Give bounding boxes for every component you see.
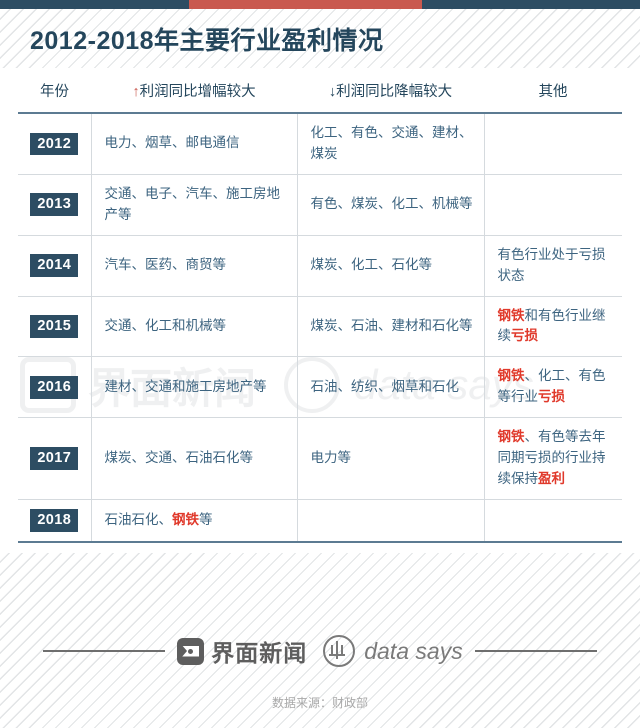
table-row: 2016建材、交通和施工房地产等石油、纺织、烟草和石化钢铁、化工、有色等行业亏损 xyxy=(18,357,622,418)
column-header-label: 利润同比降幅较大 xyxy=(336,84,452,100)
cell-text: 建材、交通和施工房地产等 xyxy=(105,379,267,394)
year-cell: 2013 xyxy=(18,174,91,235)
year-badge: 2012 xyxy=(30,133,78,156)
cell-text: 交通、电子、汽车、施工房地产等 xyxy=(105,186,281,222)
cell-text: 化工、有色、交通、建材、煤炭 xyxy=(311,125,473,161)
profit-table-container: 年份↑利润同比增幅较大↓利润同比降幅较大其他 2012电力、烟草、邮电通信化工、… xyxy=(18,68,622,543)
column-header-year: 年份 xyxy=(18,68,91,113)
up-cell: 石油石化、钢铁等 xyxy=(91,499,297,541)
other-cell: 有色行业处于亏损状态 xyxy=(484,235,622,296)
cell-text: 煤炭、石油、建材和石化等 xyxy=(311,318,473,333)
cell-text: 汽车、医药、商贸等 xyxy=(105,257,227,272)
year-cell: 2015 xyxy=(18,296,91,357)
table-row: 2014汽车、医药、商贸等煤炭、化工、石化等有色行业处于亏损状态 xyxy=(18,235,622,296)
up-cell: 建材、交通和施工房地产等 xyxy=(91,357,297,418)
year-badge: 2018 xyxy=(30,509,78,532)
table-row: 2018石油石化、钢铁等 xyxy=(18,499,622,541)
footer-rule-left xyxy=(43,650,165,652)
up-cell: 电力、烟草、邮电通信 xyxy=(91,113,297,174)
table-row: 2015交通、化工和机械等煤炭、石油、建材和石化等钢铁和有色行业继续亏损 xyxy=(18,296,622,357)
highlighted-term: 亏损 xyxy=(511,328,538,343)
data-source-note: 数据来源：财政部 xyxy=(0,694,640,711)
year-cell: 2016 xyxy=(18,357,91,418)
year-badge: 2013 xyxy=(30,193,78,216)
up-cell: 交通、化工和机械等 xyxy=(91,296,297,357)
cell-text: 有色行业处于亏损状态 xyxy=(498,247,606,283)
table-header: 年份↑利润同比增幅较大↓利润同比降幅较大其他 xyxy=(18,68,622,113)
year-badge: 2017 xyxy=(30,447,78,470)
down-cell: 煤炭、化工、石化等 xyxy=(297,235,484,296)
down-cell: 化工、有色、交通、建材、煤炭 xyxy=(297,113,484,174)
cell-text: 石油、纺织、烟草和石化 xyxy=(311,379,460,394)
up-cell: 交通、电子、汽车、施工房地产等 xyxy=(91,174,297,235)
highlighted-term: 钢铁 xyxy=(498,429,525,444)
table-body: 2012电力、烟草、邮电通信化工、有色、交通、建材、煤炭2013交通、电子、汽车… xyxy=(18,113,622,542)
year-badge: 2014 xyxy=(30,254,78,277)
top-accent-bar xyxy=(0,0,640,9)
year-cell: 2012 xyxy=(18,113,91,174)
footer-rule-right xyxy=(475,650,597,652)
highlighted-term: 盈利 xyxy=(538,471,565,486)
table-header-row: 年份↑利润同比增幅较大↓利润同比降幅较大其他 xyxy=(18,68,622,113)
down-cell: 石油、纺织、烟草和石化 xyxy=(297,357,484,418)
cell-text: 有色、煤炭、化工、机械等 xyxy=(311,196,473,211)
down-cell xyxy=(297,499,484,541)
highlighted-term: 亏损 xyxy=(538,389,565,404)
year-cell: 2014 xyxy=(18,235,91,296)
footer-branding: 界面新闻 data says xyxy=(0,628,640,674)
table-row: 2017煤炭、交通、石油石化等电力等钢铁、有色等去年同期亏损的行业持续保持盈利 xyxy=(18,418,622,500)
cell-text: 等 xyxy=(199,512,213,527)
column-header-down: ↓利润同比降幅较大 xyxy=(297,68,484,113)
cell-text: 电力、烟草、邮电通信 xyxy=(105,135,240,150)
year-badge: 2015 xyxy=(30,315,78,338)
page-title: 2012-2018年主要行业盈利情况 xyxy=(30,21,384,57)
other-cell xyxy=(484,174,622,235)
up-cell: 汽车、医药、商贸等 xyxy=(91,235,297,296)
other-cell: 钢铁、化工、有色等行业亏损 xyxy=(484,357,622,418)
year-badge: 2016 xyxy=(30,376,78,399)
year-cell: 2018 xyxy=(18,499,91,541)
down-cell: 有色、煤炭、化工、机械等 xyxy=(297,174,484,235)
arrow-up-icon: ↑ xyxy=(132,84,139,100)
brand-name-en: data says xyxy=(364,638,462,665)
year-cell: 2017 xyxy=(18,418,91,500)
table-row: 2013交通、电子、汽车、施工房地产等有色、煤炭、化工、机械等 xyxy=(18,174,622,235)
other-cell xyxy=(484,113,622,174)
top-accent-highlight xyxy=(189,0,422,9)
down-cell: 电力等 xyxy=(297,418,484,500)
column-header-label: 年份 xyxy=(40,84,69,100)
jiemian-logo-icon xyxy=(177,638,204,665)
column-header-other: 其他 xyxy=(484,68,622,113)
profit-table: 年份↑利润同比增幅较大↓利润同比降幅较大其他 2012电力、烟草、邮电通信化工、… xyxy=(18,68,622,543)
column-header-label: 利润同比增幅较大 xyxy=(140,84,256,100)
cell-text: 交通、化工和机械等 xyxy=(105,318,227,333)
other-cell: 钢铁、有色等去年同期亏损的行业持续保持盈利 xyxy=(484,418,622,500)
highlighted-term: 钢铁 xyxy=(172,512,199,527)
cell-text: 石油石化、 xyxy=(105,512,173,527)
down-cell: 煤炭、石油、建材和石化等 xyxy=(297,296,484,357)
other-cell xyxy=(484,499,622,541)
cell-text: 电力等 xyxy=(311,450,352,465)
highlighted-term: 钢铁 xyxy=(498,308,525,323)
brand-logo-group: 界面新闻 data says xyxy=(165,634,474,668)
column-header-label: 其他 xyxy=(539,84,568,100)
up-cell: 煤炭、交通、石油石化等 xyxy=(91,418,297,500)
table-row: 2012电力、烟草、邮电通信化工、有色、交通、建材、煤炭 xyxy=(18,113,622,174)
column-header-up: ↑利润同比增幅较大 xyxy=(91,68,297,113)
data-says-icon xyxy=(323,635,355,667)
cell-text: 煤炭、交通、石油石化等 xyxy=(105,450,254,465)
highlighted-term: 钢铁 xyxy=(498,368,525,383)
brand-name-cn: 界面新闻 xyxy=(211,634,307,668)
cell-text: 煤炭、化工、石化等 xyxy=(311,257,433,272)
other-cell: 钢铁和有色行业继续亏损 xyxy=(484,296,622,357)
